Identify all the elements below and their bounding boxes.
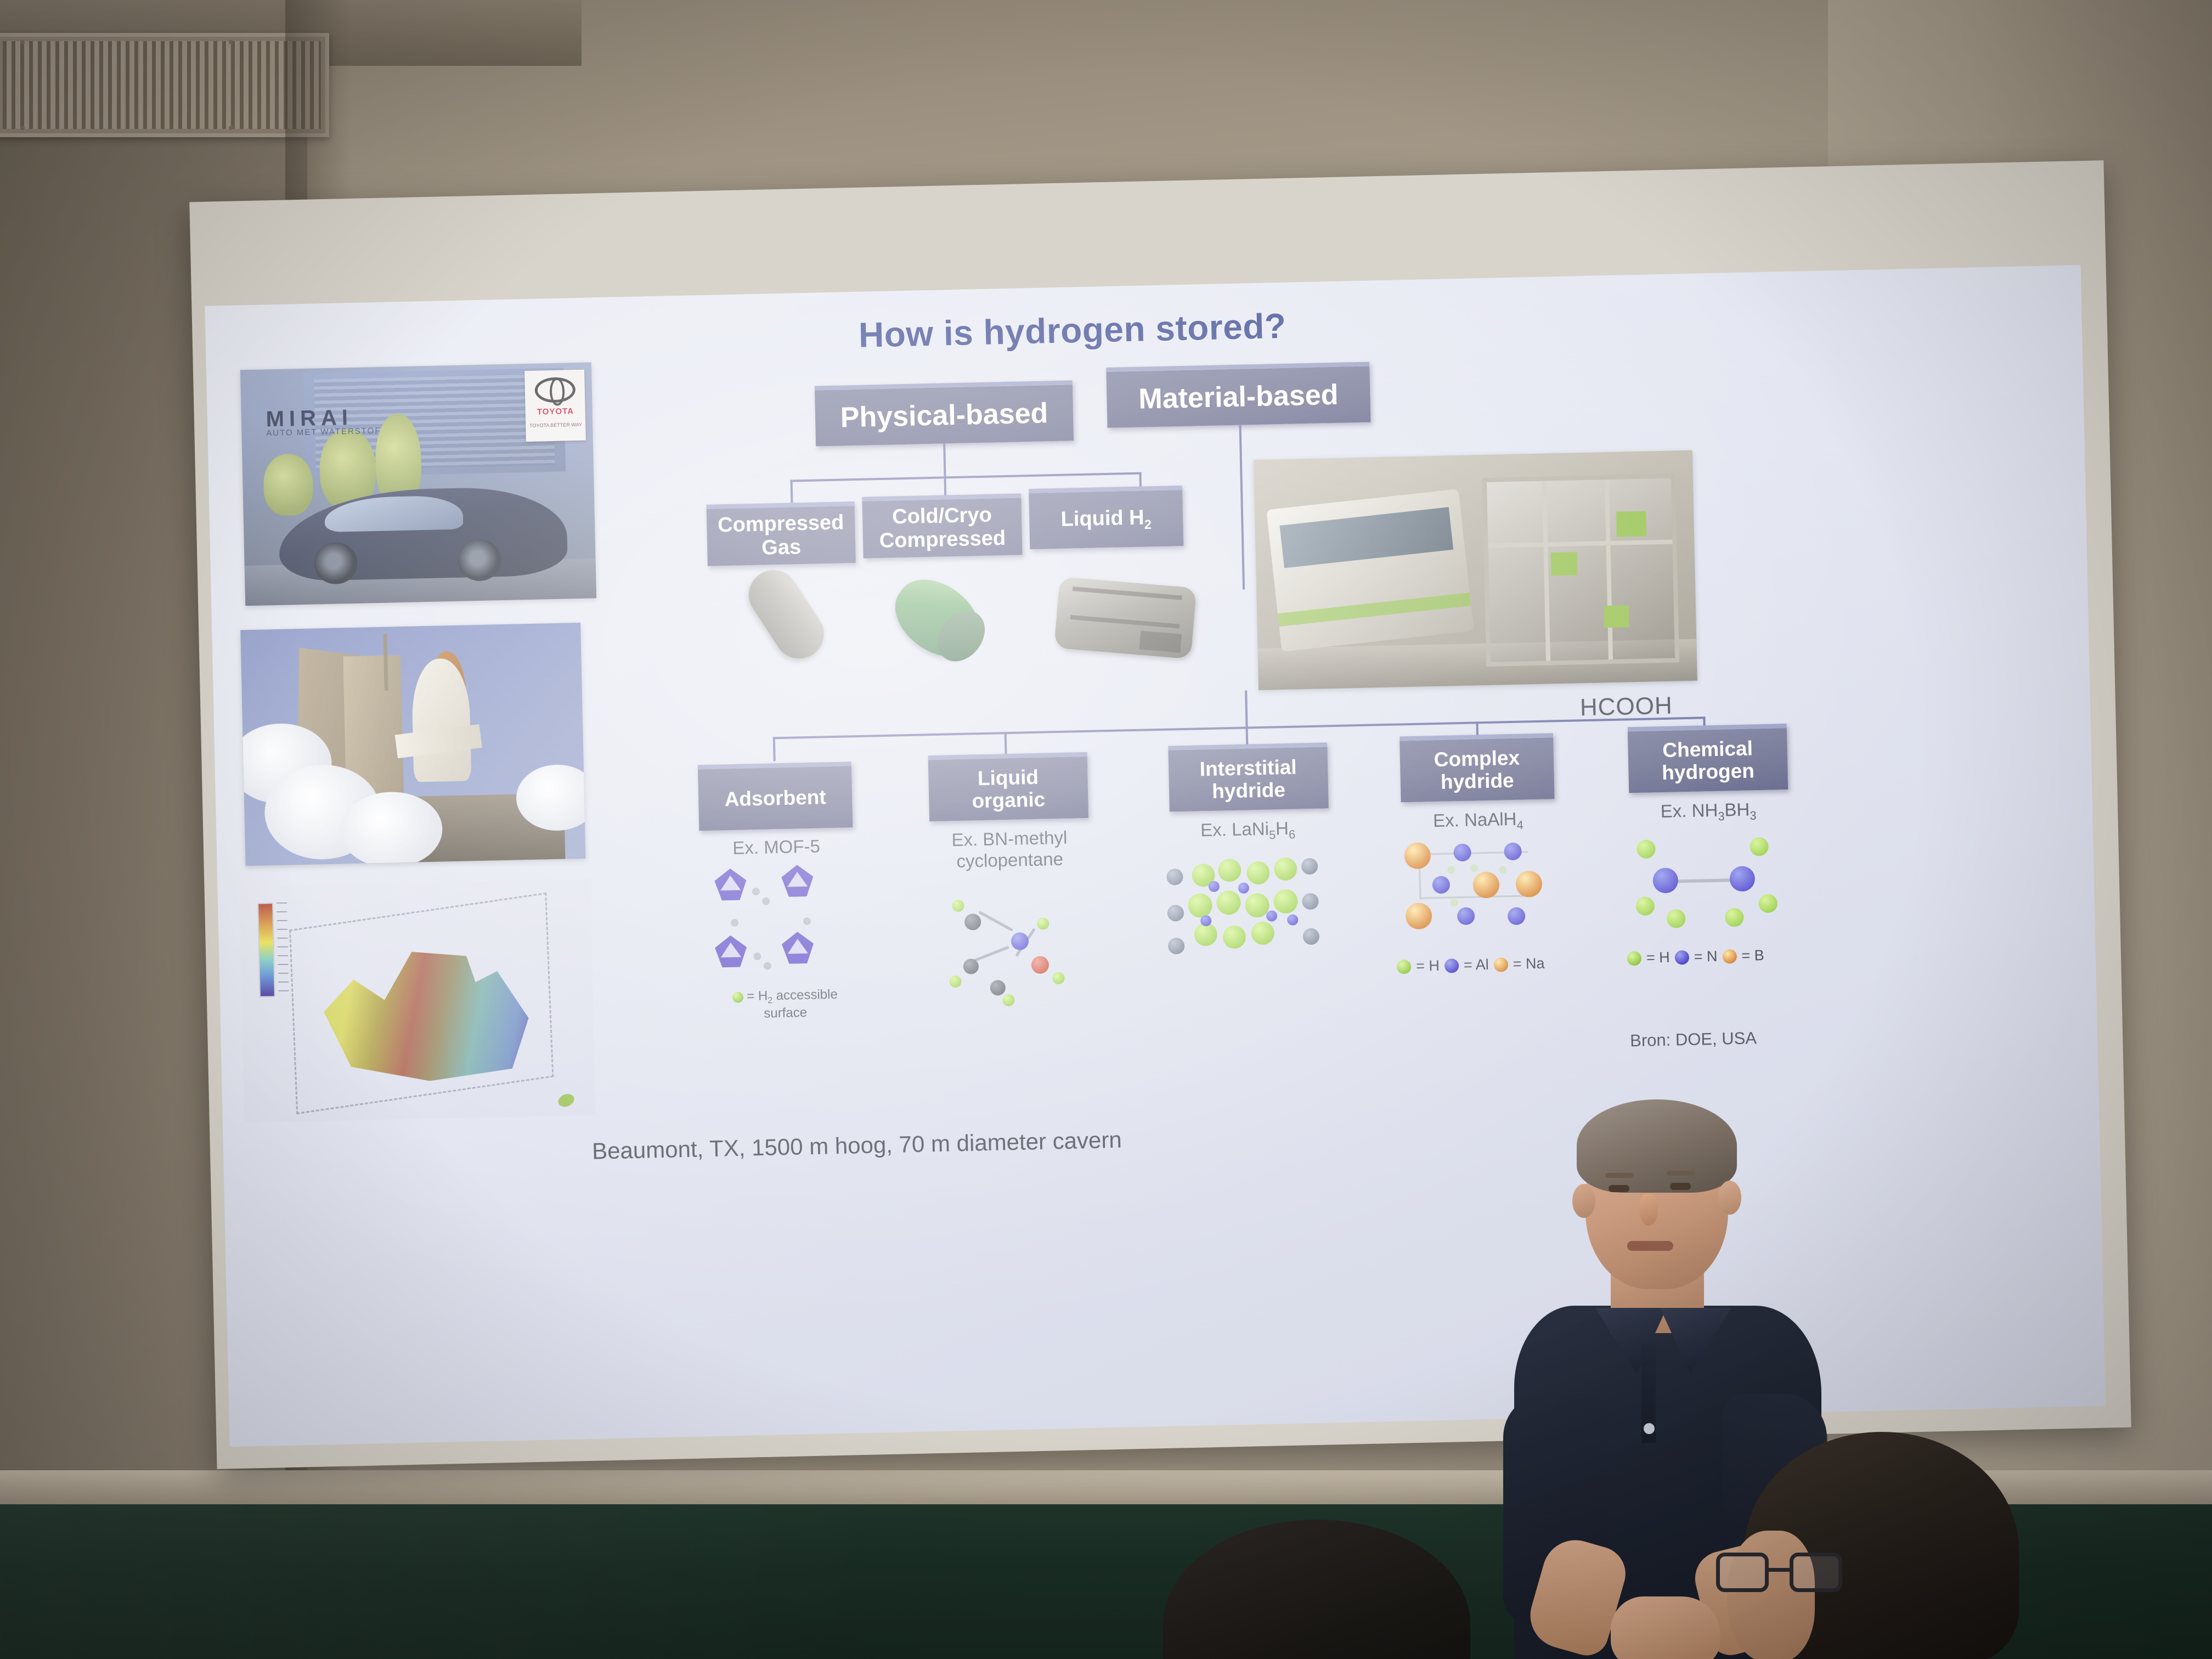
tank-valve-assembly bbox=[1139, 631, 1182, 653]
zinc-tetrahedron bbox=[714, 868, 747, 900]
example-adsorbent: Ex. MOF-5 bbox=[699, 835, 854, 860]
aluminium-atom bbox=[1504, 843, 1522, 861]
bond bbox=[972, 946, 1009, 963]
vent-screw bbox=[20, 126, 25, 130]
carbon-atom bbox=[963, 958, 979, 974]
presenter-shirt-button bbox=[1644, 1423, 1655, 1434]
aluminium-dot-icon bbox=[1444, 958, 1459, 973]
presenter-ear bbox=[1718, 1181, 1741, 1215]
page-title: How is hydrogen stored? bbox=[688, 302, 1457, 359]
node-label: Cold/Cryo Compressed bbox=[878, 503, 1006, 552]
glasses-lens bbox=[1716, 1553, 1769, 1592]
aluminium-atom bbox=[1453, 844, 1471, 862]
bond bbox=[978, 911, 1013, 932]
toyota-brand-text: TOYOTA bbox=[529, 407, 582, 417]
air-vent bbox=[0, 33, 329, 137]
node-label: Complex hydride bbox=[1434, 746, 1520, 793]
zinc-tetrahedron bbox=[715, 935, 747, 968]
mirai-car bbox=[278, 486, 568, 582]
hydrogen-atom bbox=[1188, 893, 1212, 918]
lecture-room: How is hydrogen stored? MIRAI AUTO MET W… bbox=[0, 0, 2212, 1659]
zinc-tetrahedron bbox=[782, 932, 814, 964]
colorbar-ticks bbox=[276, 902, 289, 997]
nickel-atom bbox=[1266, 910, 1277, 921]
aluminium-atom bbox=[1432, 876, 1451, 894]
node-label: Chemical hydrogen bbox=[1661, 737, 1754, 785]
glasses-bridge bbox=[1769, 1568, 1791, 1572]
naalh4-lattice bbox=[1396, 839, 1563, 947]
example-complex-hydride: Ex. NaAlH4 bbox=[1396, 808, 1561, 835]
lanthanum-atom bbox=[1166, 868, 1183, 885]
connector bbox=[943, 443, 946, 477]
node-material-based[interactable]: Material-based bbox=[1106, 362, 1370, 427]
connector bbox=[1245, 690, 1248, 727]
linker-atom bbox=[731, 919, 738, 927]
formic-acid-rig bbox=[1482, 473, 1679, 667]
node-complex-hydride[interactable]: Complex hydride bbox=[1400, 733, 1555, 802]
hydrogen-atom bbox=[1216, 890, 1241, 915]
connector bbox=[1239, 425, 1245, 590]
lattice-line bbox=[1419, 895, 1529, 899]
vent-screw bbox=[229, 40, 233, 44]
connector bbox=[791, 479, 793, 503]
vent-screw bbox=[229, 126, 233, 130]
chemical-hydrogen-legend: = H = N = B bbox=[1627, 947, 1764, 967]
wheel bbox=[458, 539, 501, 581]
hydrogen-atom bbox=[1758, 894, 1778, 913]
nickel-atom bbox=[1287, 915, 1298, 926]
hydride-atom bbox=[1450, 899, 1458, 906]
presenter-ear bbox=[1572, 1184, 1595, 1218]
legend-label: = B bbox=[1741, 947, 1764, 964]
nickel-atom bbox=[1238, 883, 1249, 894]
legend-label: = N bbox=[1694, 948, 1717, 966]
nickel-atom bbox=[1209, 881, 1220, 892]
presenter-hair bbox=[1577, 1099, 1737, 1193]
rack-bar bbox=[1605, 479, 1613, 659]
nitrogen-dot-icon bbox=[1674, 950, 1689, 965]
node-physical-based[interactable]: Physical-based bbox=[815, 380, 1074, 446]
hydrogen-atom bbox=[1251, 922, 1274, 945]
hydrogen-atom bbox=[1273, 889, 1298, 914]
hydrogen-atom bbox=[1222, 926, 1246, 949]
presenter-hands bbox=[1611, 1596, 1720, 1659]
lanthanum-atom bbox=[1168, 938, 1185, 955]
example-chemical-hydrogen: Ex. NH3BH3 bbox=[1626, 798, 1791, 826]
tank-band bbox=[1070, 615, 1180, 629]
glasses-lens bbox=[1790, 1553, 1842, 1592]
node-chemical-hydrogen[interactable]: Chemical hydrogen bbox=[1628, 724, 1788, 793]
hydrogen-bus-and-formic-acid-rig-photo bbox=[1254, 450, 1697, 690]
legend-label: = Na bbox=[1513, 955, 1544, 973]
node-label: Material-based bbox=[1138, 379, 1339, 415]
rack-bar bbox=[1488, 539, 1672, 548]
toyota-logo-icon bbox=[534, 377, 575, 403]
hydrogen-atom bbox=[1635, 896, 1655, 916]
sodium-dot-icon bbox=[1493, 957, 1508, 972]
toyota-tagline: TOYOTA BETTER WAY bbox=[529, 422, 582, 428]
aluminium-atom bbox=[1457, 907, 1475, 926]
presenter-eye bbox=[1670, 1183, 1691, 1190]
nitrogen-atom bbox=[1011, 932, 1029, 950]
hydrogen-atom bbox=[952, 900, 964, 912]
legend-label: = H bbox=[1416, 957, 1440, 975]
rack-bar bbox=[1542, 481, 1550, 661]
hydrogen-atom bbox=[1750, 837, 1769, 856]
connector bbox=[791, 472, 1142, 482]
linker-atom bbox=[762, 898, 770, 905]
boron-dot-icon bbox=[1722, 949, 1737, 964]
tree bbox=[263, 453, 314, 516]
adsorbent-legend: = H2 accessible surface bbox=[703, 986, 868, 1023]
presenter-eyebrow bbox=[1667, 1171, 1695, 1176]
liquid-hydrogen-tank bbox=[1054, 577, 1197, 659]
wheel bbox=[314, 542, 358, 584]
scale-marker bbox=[556, 1092, 576, 1109]
node-liquid-h2[interactable]: Liquid H2 bbox=[1029, 486, 1183, 549]
node-liquid-organic[interactable]: Liquid organic bbox=[928, 752, 1089, 821]
zinc-tetrahedron bbox=[781, 865, 814, 897]
sodium-atom bbox=[1406, 902, 1432, 929]
bus-stripe bbox=[1278, 592, 1471, 627]
linker-atom bbox=[764, 962, 771, 970]
hydrogen-atom bbox=[1667, 909, 1686, 928]
carbon-atom bbox=[964, 913, 981, 930]
equipment-module bbox=[1551, 552, 1578, 576]
hydrogen-atom bbox=[1037, 917, 1049, 929]
salt-cavern-3d-surface-plot bbox=[239, 879, 595, 1123]
equipment-module bbox=[1616, 511, 1646, 537]
hydrogen-atom bbox=[1245, 893, 1269, 918]
node-label: Liquid H2 bbox=[1060, 506, 1152, 534]
vent-screw bbox=[20, 40, 25, 44]
lanthanum-atom bbox=[1303, 928, 1320, 945]
hydrogen-atom bbox=[949, 975, 961, 988]
aluminium-atom bbox=[1508, 907, 1526, 926]
hydrogen-atom bbox=[1052, 972, 1064, 984]
equipment-module bbox=[1604, 605, 1629, 628]
presenter-eyebrow bbox=[1605, 1173, 1634, 1178]
lanthanum-atom bbox=[1301, 858, 1318, 875]
legend-label: = H bbox=[1646, 949, 1670, 967]
carbon-atom bbox=[990, 980, 1006, 996]
presenter-eye bbox=[1609, 1185, 1629, 1192]
bn-methyl-cyclopentane-molecule bbox=[947, 885, 1076, 997]
nh3bh3-molecule bbox=[1632, 837, 1782, 939]
hydrogen-dot-icon bbox=[732, 991, 743, 1002]
boron-atom bbox=[1031, 956, 1049, 974]
hydrogen-dot-icon bbox=[1627, 951, 1642, 966]
source-attribution: Bron: DOE, USA bbox=[1630, 1028, 1757, 1051]
nitrogen-atom bbox=[1652, 867, 1678, 893]
hydride-atom bbox=[1499, 866, 1506, 873]
linker-atom bbox=[803, 917, 811, 925]
example-liquid-organic: Ex. BN-methyl cyclopentane bbox=[924, 827, 1096, 873]
node-label: Interstitial hydride bbox=[1199, 755, 1297, 803]
lani5h6-lattice bbox=[1161, 849, 1328, 962]
legend-label: = Al bbox=[1464, 956, 1489, 974]
vent-slats bbox=[3, 41, 321, 129]
node-label: Compressed Gas bbox=[718, 511, 845, 561]
hydrogen-atom bbox=[1246, 861, 1270, 885]
node-cold-cryo-compressed[interactable]: Cold/Cryo Compressed bbox=[862, 493, 1022, 558]
boron-atom bbox=[1729, 866, 1755, 891]
connector bbox=[773, 716, 1706, 739]
toyota-mirai-photo: MIRAI AUTO MET WATERSTOF TOYOTA TOYOTA B… bbox=[240, 362, 596, 606]
space-shuttle-launch-photo bbox=[240, 623, 585, 866]
presenter-nose bbox=[1639, 1194, 1658, 1226]
hydrogen-atom bbox=[1274, 857, 1297, 881]
mof5-structure bbox=[711, 864, 851, 987]
tank-band bbox=[1073, 586, 1182, 600]
presenter-mouth bbox=[1627, 1241, 1673, 1251]
hydrogen-atom bbox=[1002, 994, 1014, 1006]
n-b-bond bbox=[1669, 878, 1735, 883]
connector bbox=[773, 737, 776, 761]
node-interstitial-hydride[interactable]: Interstitial hydride bbox=[1168, 742, 1329, 811]
hydride-atom bbox=[1447, 866, 1455, 873]
node-label: Physical-based bbox=[840, 397, 1048, 433]
bottom-caption: Beaumont, TX, 1500 m hoog, 70 m diameter… bbox=[592, 1127, 1122, 1165]
hydrogen-atom bbox=[1637, 839, 1656, 859]
node-compressed-gas[interactable]: Compressed Gas bbox=[706, 501, 855, 566]
hydrogen-dot-icon bbox=[1397, 960, 1412, 974]
colorbar bbox=[257, 902, 275, 997]
node-label: Liquid organic bbox=[971, 765, 1045, 812]
connector bbox=[1005, 732, 1007, 756]
hydride-atom bbox=[1470, 864, 1478, 872]
toyota-sign: TOYOTA TOYOTA BETTER WAY bbox=[524, 370, 586, 442]
example-interstitial-hydride: Ex. LaNi5H6 bbox=[1165, 817, 1330, 844]
compressed-gas-cylinder bbox=[740, 561, 833, 668]
node-adsorbent[interactable]: Adsorbent bbox=[698, 761, 853, 831]
sodium-atom bbox=[1515, 871, 1542, 898]
complex-hydride-legend: = H = Al = Na bbox=[1397, 955, 1545, 975]
hydrogen-atom bbox=[1725, 908, 1744, 927]
sodium-atom bbox=[1404, 842, 1431, 869]
cryo-compressed-vessel bbox=[882, 565, 994, 672]
hydrogen-bus bbox=[1266, 489, 1474, 652]
hydrogen-atom bbox=[1218, 859, 1242, 882]
lanthanum-atom bbox=[1167, 905, 1184, 922]
node-label: Adsorbent bbox=[724, 786, 826, 811]
linker-atom bbox=[752, 888, 760, 895]
bus-windows bbox=[1280, 507, 1453, 568]
sodium-atom bbox=[1472, 872, 1499, 899]
linker-atom bbox=[753, 952, 761, 960]
lanthanum-atom bbox=[1302, 893, 1319, 910]
eyeglasses-icon bbox=[1716, 1553, 1842, 1600]
